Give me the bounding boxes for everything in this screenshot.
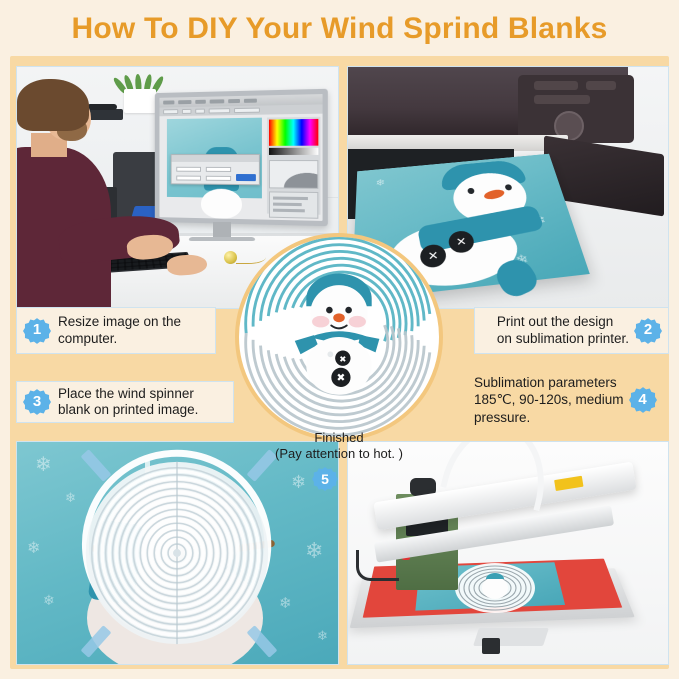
- step-1-number: 1: [33, 321, 41, 339]
- step-4-box: Sublimation parameters 185℃, 90-120s, me…: [468, 372, 669, 428]
- resize-image-dialog: [171, 154, 260, 185]
- step-3-number: 3: [33, 393, 41, 411]
- step-5-number: 5: [312, 466, 338, 492]
- step-4-text: Sublimation parameters 185℃, 90-120s, me…: [474, 374, 624, 427]
- monitor-base: [188, 237, 255, 241]
- step-3-box: 3 Place the wind spinner blank on printe…: [16, 381, 234, 423]
- computer-monitor: [155, 89, 328, 226]
- power-plug: [482, 638, 500, 654]
- step-3-badge: 3: [23, 388, 51, 416]
- infographic-page: How To DIY Your Wind Sprind Blanks: [0, 0, 679, 679]
- app-toolbar: [159, 104, 322, 116]
- snowman-button-lower: [420, 243, 448, 268]
- editor-side-panels: [267, 117, 321, 215]
- step-5-badge: 5: [312, 466, 338, 492]
- finished-label: Finished: [216, 430, 462, 446]
- step-2-number: 2: [644, 321, 652, 339]
- warning-label-icon: [554, 476, 583, 491]
- histogram-panel: [269, 160, 318, 189]
- step-2-badge: 2: [634, 317, 662, 345]
- panel-blank-wind-spinner-on-printed-image: ❄ ❄ ❄ ❄ ❄ ❄ ❄ ❄: [16, 441, 339, 665]
- layers-panel: [269, 191, 318, 218]
- printer-control-panel: [518, 75, 634, 143]
- page-title: How To DIY Your Wind Sprind Blanks: [0, 4, 679, 54]
- finished-warning: (Pay attention to hot. ): [216, 446, 462, 462]
- monitor-screen: [159, 94, 322, 221]
- step-4-number: 4: [638, 391, 646, 409]
- step-1-text: Resize image on the computer.: [58, 314, 181, 347]
- spinner-on-platen: [452, 560, 538, 616]
- step-4-badge: 4: [629, 386, 657, 414]
- step-1-badge: 1: [23, 317, 51, 345]
- finished-caption: Finished (Pay attention to hot. ): [216, 430, 462, 463]
- man-hair: [17, 79, 89, 131]
- svg-text:✖: ✖: [339, 354, 346, 364]
- snowman-button-upper: [448, 230, 476, 254]
- printed-snowman-design: [393, 166, 558, 281]
- plant-pot: [124, 89, 156, 113]
- monitor-stand: [213, 222, 231, 238]
- blank-wind-spinner-overlay: [17, 442, 338, 664]
- finished-product-circle: ✖ ✖: [235, 233, 443, 441]
- color-picker-swatch: [269, 119, 318, 146]
- finished-wind-spinner-graphic: ✖ ✖: [239, 237, 439, 437]
- svg-text:✖: ✖: [336, 372, 345, 384]
- power-cord: [356, 550, 399, 581]
- step-1-box: 1 Resize image on the computer.: [16, 307, 216, 354]
- gradient-bar: [269, 148, 318, 155]
- step-3-text: Place the wind spinner blank on printed …: [58, 386, 198, 419]
- panel-heat-press-machine: [347, 441, 669, 665]
- step-2-box: Print out the design on sublimation prin…: [474, 307, 669, 354]
- step-2-text: Print out the design on sublimation prin…: [497, 314, 629, 347]
